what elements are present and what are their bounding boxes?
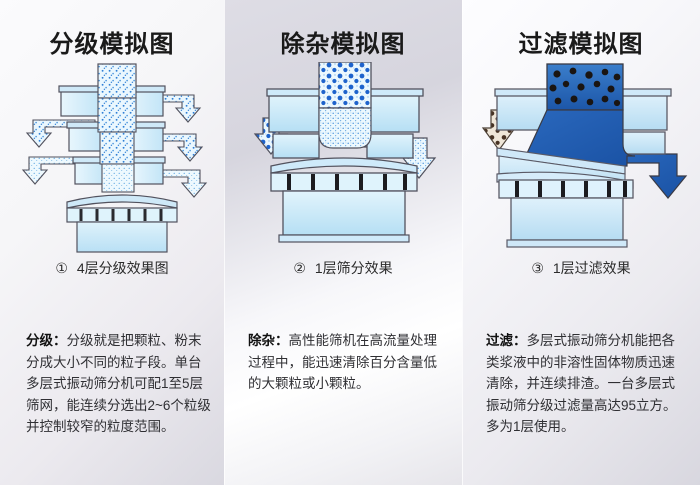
caption-text-3: 1层过滤效果 [553, 260, 631, 276]
panel-filtration: 过滤模拟图 [462, 0, 700, 485]
panel-body-classification: 分级：分级就是把颗粒、粉末分成大小不同的粒子段。单台多层式振动筛分机可配1至5层… [26, 330, 211, 438]
simulation-diagram-board: 分级模拟图 [0, 0, 700, 485]
caption-number-3: ③ [531, 260, 544, 276]
panel-caption-classification: ①4层分级效果图 [0, 258, 224, 278]
diagram-impurity [224, 62, 462, 254]
panel-body-filtration: 过滤：多层式振动筛分机能把各类浆液中的非溶性固体物质迅速清除，并连续排渣。一台多… [486, 330, 678, 438]
body-label-2: 除杂： [248, 333, 289, 348]
caption-number-2: ② [293, 260, 306, 276]
panel-body-impurity: 除杂：高性能筛机在高流量处理过程中，能迅速清除百分含量低的大颗粒或小颗粒。 [248, 330, 438, 395]
body-text-1: 分级就是把颗粒、粉末分成大小不同的粒子段。单台多层式振动筛分机可配1至5层筛网，… [26, 333, 211, 434]
body-text-3: 多层式振动筛分机能把各类浆液中的非溶性固体物质迅速清除，并连续排渣。一台多层式振… [486, 333, 677, 434]
panel-caption-impurity: ②1层筛分效果 [224, 258, 462, 278]
panel-title-classification: 分级模拟图 [0, 24, 224, 59]
caption-number-1: ① [55, 260, 68, 276]
diagram-filtration [462, 62, 700, 254]
panel-classification: 分级模拟图 [0, 0, 224, 485]
body-label-3: 过滤： [486, 333, 527, 348]
caption-text-1: 4层分级效果图 [77, 260, 169, 276]
single-deck-filter-svg [465, 62, 697, 254]
diagram-classification [0, 62, 224, 254]
panel-title-filtration: 过滤模拟图 [462, 24, 700, 59]
multi-deck-classifier-svg [3, 62, 221, 254]
panel-title-impurity: 除杂模拟图 [224, 24, 462, 59]
body-label-1: 分级： [26, 333, 67, 348]
caption-text-2: 1层筛分效果 [315, 260, 393, 276]
single-deck-screening-svg [227, 62, 459, 254]
panel-caption-filtration: ③1层过滤效果 [462, 258, 700, 278]
panel-impurity-removal: 除杂模拟图 [224, 0, 462, 485]
